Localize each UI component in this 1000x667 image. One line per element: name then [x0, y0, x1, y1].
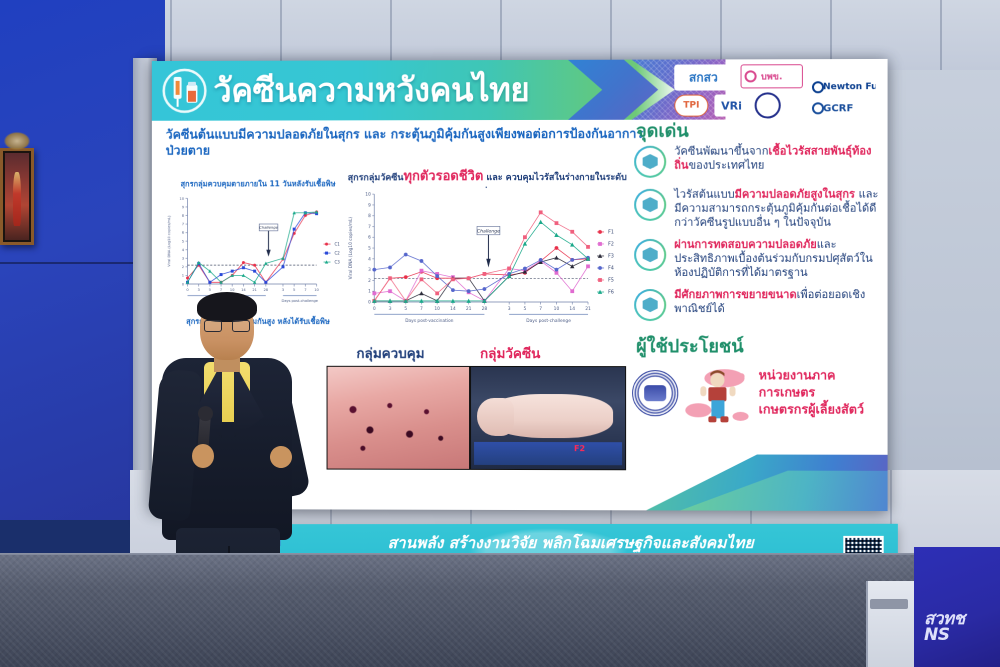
portrait-crest-icon — [4, 132, 30, 150]
y-tick-label: 10 — [180, 197, 185, 201]
logo-newton-fund: Newton Fund — [809, 76, 876, 98]
y-tick-label: 7 — [182, 222, 184, 226]
x-tick-label: 28 — [264, 288, 269, 292]
x-tick-label: 7 — [304, 288, 306, 292]
point-F5 — [586, 245, 590, 249]
y-tick-label: 1 — [182, 274, 184, 278]
point-F5 — [555, 221, 559, 225]
legend-marker-F1 — [598, 230, 602, 234]
panel-stand — [870, 599, 908, 609]
pig-on-table-photo: F2 — [471, 367, 625, 469]
highlight-text-2: ไวรัสต้นแบบมีความปลอดภัยสูงในสุกร และมีค… — [674, 187, 885, 230]
logo-gcrf: GCRF — [809, 98, 876, 118]
highlight-2-part-2: มีความปลอดภัยสูงใน — [735, 187, 836, 200]
x-tick-label: 21 — [585, 306, 591, 312]
point-F4 — [523, 267, 527, 271]
legend-marker-C2 — [325, 252, 328, 255]
x-tick-label: 21 — [252, 288, 257, 292]
point-C1 — [186, 277, 189, 280]
point-F5 — [523, 235, 527, 239]
point-F6 — [539, 220, 543, 224]
logo-tpi: TPI — [674, 95, 708, 117]
point-F2 — [372, 291, 376, 295]
highlight-1-part-2: เชื้อไวรัส — [768, 144, 810, 157]
speaker-hair — [197, 292, 257, 322]
point-C1 — [242, 261, 245, 264]
x-tick-label: 3 — [389, 306, 392, 312]
point-F5 — [435, 291, 439, 295]
point-C2 — [253, 270, 256, 273]
y-tick-label: 0 — [182, 282, 185, 286]
x-tick-label: 7 — [539, 306, 542, 312]
safety-shield-icon — [634, 189, 666, 221]
point-F4 — [435, 274, 439, 278]
factory-scaleup-icon — [634, 289, 666, 321]
point-F5 — [420, 277, 424, 281]
portrait-figure — [13, 172, 20, 226]
vaccine-title-highlight: ทุกตัวรอดชีวิต — [403, 169, 483, 184]
legend-marker-F4 — [598, 266, 602, 270]
royal-portrait-frame — [0, 148, 34, 245]
right-blue-kiosk: สวทชNS — [914, 547, 1000, 667]
y-tick-label: 3 — [182, 257, 184, 261]
point-F4 — [555, 268, 559, 272]
x-tick-label: 14 — [450, 306, 456, 312]
y-tick-label: 6 — [368, 235, 371, 241]
series-line-C3 — [188, 212, 317, 282]
vaccine-title-part1: สุกรกลุ่มวัคซีน — [348, 173, 404, 183]
highlight-text-4: มีศักยภาพการขยายขนาดเพื่อต่อยอดเชิงพาณิช… — [674, 288, 885, 317]
pig-head — [477, 398, 514, 437]
point-C1 — [253, 264, 256, 267]
point-C2 — [293, 228, 296, 231]
y-tick-label: 2 — [182, 265, 184, 269]
y-tick-label: 9 — [182, 205, 185, 209]
x-tick-label: 14 — [241, 288, 246, 292]
point-F2 — [388, 289, 392, 293]
stage-scene: วัคซีนความหวังคนไทย สกสว บพข. TPI VRi Ne… — [0, 0, 1000, 667]
y-axis-label: Viral DNA (Log10 copies/mL) — [348, 216, 354, 279]
speaker-glasses-icon — [204, 320, 250, 332]
y-tick-label: 1 — [368, 289, 371, 295]
highlight-2-part-1: ไวรัสต้นแบบ — [674, 188, 734, 201]
point-F5 — [451, 277, 455, 281]
x-tick-label: 14 — [569, 306, 575, 312]
users-text-line: หน่วยงานภาค — [759, 368, 864, 385]
x-tick-label: 5 — [209, 288, 211, 292]
gcrf-mark-icon — [812, 102, 824, 114]
x-tick-label: 5 — [293, 288, 295, 292]
x-tick-label: 10 — [434, 306, 440, 312]
highlights-list: วัคซีนพัฒนาขึ้นจากเชื้อไวรัสสายพันธุ์ท้อ… — [632, 144, 885, 324]
point-F2 — [570, 289, 574, 293]
x-tick-label: 10 — [314, 288, 319, 292]
legend-label-C3: C3 — [335, 259, 341, 264]
point-F1 — [404, 275, 408, 279]
legend-label-C1: C1 — [335, 241, 341, 246]
slide-title: วัคซีนความหวังคนไทย — [213, 66, 592, 115]
point-F4 — [539, 258, 543, 262]
vaccine-chart-canvas: 012345678910035710142128357101421Days po… — [346, 188, 632, 336]
control-chart-title: สุกรกลุ่มควบคุมตายภายใน 11 วันหลังรับเชื… — [164, 178, 353, 190]
legend-label-F2: F2 — [608, 242, 614, 248]
legend-label-F4: F4 — [608, 266, 614, 272]
highlight-text-1: วัคซีนพัฒนาขึ้นจากเชื้อไวรัสสายพันธุ์ท้อ… — [674, 144, 885, 173]
y-tick-label: 10 — [365, 192, 371, 198]
y-tick-label: 5 — [182, 239, 184, 243]
series-line-F3 — [374, 258, 588, 301]
point-F5 — [483, 272, 487, 276]
highlight-item-2: ไวรัสต้นแบบมีความปลอดภัยสูงในสุกร และมีค… — [632, 187, 885, 230]
newton-mark-icon — [812, 81, 824, 93]
users-heading: ผู้ใช้ประโยชน์ — [636, 331, 885, 360]
point-F3 — [570, 264, 574, 268]
highlights-heading: จุดเด่น — [636, 121, 885, 141]
highlight-item-3: ผ่านการทดสอบความปลอดภัยและประสิทธิภาพเบื… — [632, 237, 885, 280]
group-label-control: กลุ่มควบคุม — [356, 342, 424, 364]
lab-test-icon — [634, 239, 666, 271]
logo-vri: VRi — [714, 94, 748, 116]
y-tick-label: 8 — [182, 214, 185, 218]
y-tick-label: 3 — [368, 267, 371, 273]
series-line-C1 — [188, 212, 317, 282]
point-F3 — [419, 291, 423, 295]
point-C2 — [220, 273, 223, 276]
logo-dld — [755, 92, 781, 118]
xlabel-post-vaccination: Days post-vaccination — [405, 318, 454, 324]
y-tick-label: 5 — [368, 246, 371, 252]
x-tick-label: 5 — [524, 306, 527, 312]
users-text-line: การเกษตร — [759, 384, 864, 401]
speaker-left-hand — [192, 444, 214, 468]
y-tick-label: 7 — [368, 224, 371, 230]
point-C2 — [231, 270, 234, 273]
highlight-3-part-1: ผ่านการทดสอบความปลอดภัย — [674, 238, 816, 251]
x-tick-label: 5 — [404, 306, 407, 312]
virus-shield-icon — [634, 146, 666, 178]
pig-photo-label: F2 — [574, 444, 585, 453]
x-tick-label: 10 — [554, 306, 560, 312]
point-F2 — [420, 269, 424, 273]
y-tick-label: 9 — [368, 202, 371, 208]
slide-subtitle: วัคซีนต้นแบบมีความปลอดภัยในสุกร และ กระต… — [166, 126, 644, 158]
exam-table — [474, 442, 622, 465]
y-tick-label: 6 — [182, 231, 185, 235]
y-tick-label: 4 — [182, 248, 185, 252]
logo-tsri: สกสว — [674, 64, 732, 90]
x-tick-label: 21 — [466, 306, 472, 312]
challenge-arrow-head — [266, 250, 270, 257]
y-tick-label: 4 — [368, 256, 371, 262]
point-F4 — [388, 266, 392, 270]
highlight-item-4: มีศักยภาพการขยายขนาดเพื่อต่อยอดเชิงพาณิช… — [632, 288, 885, 324]
point-F4 — [451, 288, 455, 292]
xlabel-post-challenge: Days post-challenge — [526, 318, 571, 324]
point-F4 — [467, 289, 471, 293]
stage-floor — [0, 555, 1000, 667]
point-F4 — [404, 253, 408, 257]
x-tick-label: 28 — [482, 306, 488, 312]
point-F4 — [483, 287, 487, 291]
farmer-with-pigs-icon — [684, 362, 752, 424]
point-F2 — [586, 264, 590, 268]
point-F5 — [388, 276, 392, 280]
group-label-vaccine: กลุ่มวัคซีน — [480, 342, 540, 364]
wall-seam-line — [940, 0, 942, 70]
challenge-label: Challenge — [259, 226, 278, 230]
highlights-column: จุดเด่น วัคซีนพัฒนาขึ้นจากเชื้อไวรัสสายพ… — [632, 121, 885, 511]
highlight-2-part-3: สุกร — [836, 187, 855, 200]
point-F4 — [372, 268, 376, 272]
legend-label-C2: C2 — [335, 250, 341, 255]
y-tick-label: 8 — [368, 213, 371, 219]
x-tick-label: 3 — [508, 306, 511, 312]
point-C2 — [281, 265, 284, 268]
pig-skin-lesions-photo — [328, 367, 470, 469]
partner-logos: สกสว บพข. TPI VRi Newton Fund GCRF — [670, 62, 881, 119]
users-text-line: เกษตรกรผู้เลี้ยงสัตว์ — [759, 401, 864, 418]
point-C2 — [264, 281, 267, 284]
series-line-C2 — [188, 213, 317, 283]
logo-pmuc: บพข. — [741, 64, 803, 88]
portrait-canvas — [5, 153, 29, 240]
x-tick-label: 7 — [420, 306, 423, 312]
point-C2 — [208, 281, 211, 284]
point-F3 — [554, 255, 558, 259]
challenge-label: Challenge — [477, 228, 500, 234]
users-text: หน่วยงานภาคการเกษตรเกษตรกรผู้เลี้ยงสัตว์ — [759, 368, 864, 419]
legend-label-F5: F5 — [608, 278, 614, 284]
side-panel — [866, 581, 914, 667]
legend-marker-F5 — [598, 278, 602, 282]
challenge-arrow-head — [486, 259, 490, 268]
highlight-text-3: ผ่านการทดสอบความปลอดภัยและประสิทธิภาพเบื… — [674, 237, 885, 280]
legend-label-F6: F6 — [608, 290, 614, 296]
point-F5 — [539, 210, 543, 214]
point-F4 — [420, 259, 424, 263]
highlight-1-part-1: วัคซีนพัฒนาขึ้นจาก — [674, 144, 768, 157]
legend-marker-F2 — [598, 242, 602, 246]
highlight-4-part-1: มีศักยภาพการขยายขนาด — [674, 288, 796, 301]
point-F5 — [467, 276, 471, 280]
y-tick-label: 0 — [368, 300, 371, 306]
vaccine-group-chart: 012345678910035710142128357101421Days po… — [346, 188, 632, 336]
point-C2 — [242, 266, 245, 269]
legend-label-F3: F3 — [608, 254, 614, 260]
legend-marker-C1 — [325, 243, 328, 246]
highlight-1-part-4: ของประเทศไทย — [688, 159, 764, 172]
point-F6 — [570, 242, 574, 246]
series-line-F2 — [374, 261, 588, 301]
pig-photos: F2 — [327, 366, 627, 470]
point-F5 — [507, 267, 511, 271]
users-row: หน่วยงานภาคการเกษตรเกษตรกรผู้เลี้ยงสัตว์ — [632, 362, 885, 425]
y-tick-label: 2 — [368, 278, 371, 284]
pmuc-mark-icon — [745, 70, 757, 82]
legend-label-F1: F1 — [608, 230, 614, 236]
kiosk-text: สวทชNS — [924, 611, 994, 643]
dld-seal-icon — [632, 370, 678, 416]
point-F1 — [555, 246, 559, 250]
x-tick-label: 3 — [282, 288, 284, 292]
highlight-item-1: วัคซีนพัฒนาขึ้นจากเชื้อไวรัสสายพันธุ์ท้อ… — [632, 144, 885, 181]
vaccine-syringe-icon — [160, 67, 210, 115]
kiosk-text-line: NS — [924, 627, 994, 643]
x-tick-label: 0 — [186, 288, 189, 292]
point-F5 — [570, 230, 574, 234]
point-F2 — [555, 271, 559, 275]
x-tick-label: 3 — [198, 288, 200, 292]
y-axis-label: Viral DNA (Log10 copies/mL) — [167, 215, 171, 267]
point-F4 — [570, 258, 574, 262]
x-tick-label: 0 — [373, 306, 376, 312]
